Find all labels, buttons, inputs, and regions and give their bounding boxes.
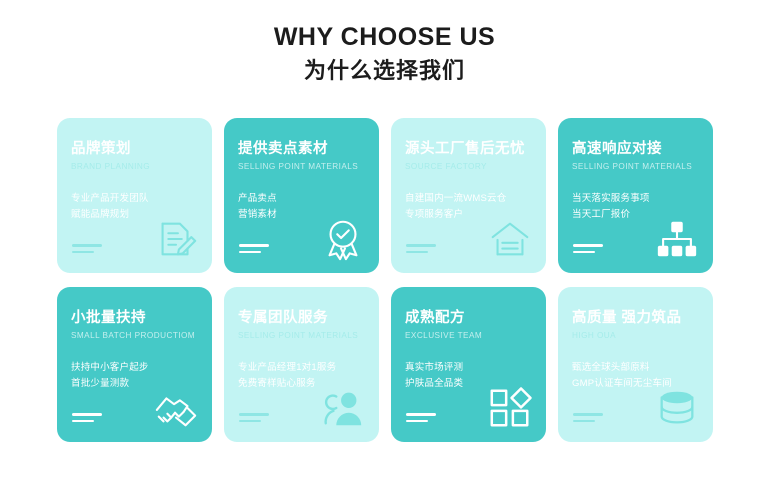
org-chart-hierarchy-icon xyxy=(652,214,702,264)
page-header: WHY CHOOSE US 为什么选择我们 xyxy=(0,0,769,86)
card-body-line-1: 专业产品经理1对1服务 xyxy=(238,360,379,375)
card-body-line-1: 当天落实服务事项 xyxy=(572,191,713,206)
card-subtitle: BRAND PLANNING xyxy=(71,162,212,172)
card-subtitle: SOURCE FACTORY xyxy=(405,162,546,172)
card-title: 成熟配方 xyxy=(405,310,546,327)
users-people-icon xyxy=(318,383,368,433)
card-body-line-1: 自建国内一流WMS云仓 xyxy=(405,191,546,206)
card-subtitle: SELLING POINT MATERIALS xyxy=(238,162,379,172)
card-title: 高质量 强力筑品 xyxy=(572,310,713,327)
card-title: 源头工厂售后无忧 xyxy=(405,141,546,158)
card-divider xyxy=(406,413,436,422)
feature-card-dedicated-team[interactable]: 专属团队服务 SELLING POINT MATERIALS 专业产品经理1对1… xyxy=(224,287,379,442)
card-body-line-1: 扶持中小客户起步 xyxy=(71,360,212,375)
card-body-line-1: 甄选全球头部原料 xyxy=(572,360,713,375)
card-title: 高速响应对接 xyxy=(572,141,713,158)
card-body-line-1: 专业产品开发团队 xyxy=(71,191,212,206)
warehouse-house-icon xyxy=(485,214,535,264)
card-divider xyxy=(72,413,102,422)
feature-card-high-quality[interactable]: 高质量 强力筑品 HIGH OUA 甄选全球头部原料 GMP认证车间无尘车间 xyxy=(558,287,713,442)
card-subtitle: SELLING POINT MATERIALS xyxy=(572,162,713,172)
cosmetic-jar-icon xyxy=(652,383,702,433)
card-body-line-1: 真实市场评测 xyxy=(405,360,546,375)
feature-card-selling-point-materials[interactable]: 提供卖点素材 SELLING POINT MATERIALS 产品卖点 营销素材 xyxy=(224,118,379,273)
card-subtitle: HIGH OUA xyxy=(572,331,713,341)
card-subtitle: EXCLUSIVE TEAM xyxy=(405,331,546,341)
card-divider xyxy=(72,244,102,253)
page-title-chinese: 为什么选择我们 xyxy=(0,56,769,86)
card-subtitle: SELLING POINT MATERIALS xyxy=(238,331,379,341)
feature-card-brand-planning[interactable]: 品牌策划 BRAND PLANNING 专业产品开发团队 赋能品牌规划 xyxy=(57,118,212,273)
card-divider xyxy=(573,244,603,253)
card-divider xyxy=(573,413,603,422)
feature-card-grid: 品牌策划 BRAND PLANNING 专业产品开发团队 赋能品牌规划 提供卖点… xyxy=(57,118,713,442)
card-subtitle: SMALL BATCH PRODUCTIOM xyxy=(71,331,212,341)
ribbon-check-badge-icon xyxy=(318,214,368,264)
why-choose-us-page: WHY CHOOSE US 为什么选择我们 品牌策划 BRAND PLANNIN… xyxy=(0,0,769,480)
page-title-english: WHY CHOOSE US xyxy=(0,22,769,53)
card-divider xyxy=(239,413,269,422)
grid-squares-diamond-icon xyxy=(485,383,535,433)
document-pencil-icon xyxy=(151,214,201,264)
card-divider xyxy=(239,244,269,253)
feature-card-mature-formula[interactable]: 成熟配方 EXCLUSIVE TEAM 真实市场评测 护肤品全品类 xyxy=(391,287,546,442)
card-divider xyxy=(406,244,436,253)
feature-card-fast-response[interactable]: 高速响应对接 SELLING POINT MATERIALS 当天落实服务事项 … xyxy=(558,118,713,273)
handshake-icon xyxy=(151,383,201,433)
feature-card-small-batch[interactable]: 小批量扶持 SMALL BATCH PRODUCTIOM 扶持中小客户起步 首批… xyxy=(57,287,212,442)
card-title: 专属团队服务 xyxy=(238,310,379,327)
card-body-line-1: 产品卖点 xyxy=(238,191,379,206)
card-title: 品牌策划 xyxy=(71,141,212,158)
card-title: 提供卖点素材 xyxy=(238,141,379,158)
feature-card-source-factory[interactable]: 源头工厂售后无忧 SOURCE FACTORY 自建国内一流WMS云仓 专项服务… xyxy=(391,118,546,273)
card-title: 小批量扶持 xyxy=(71,310,212,327)
